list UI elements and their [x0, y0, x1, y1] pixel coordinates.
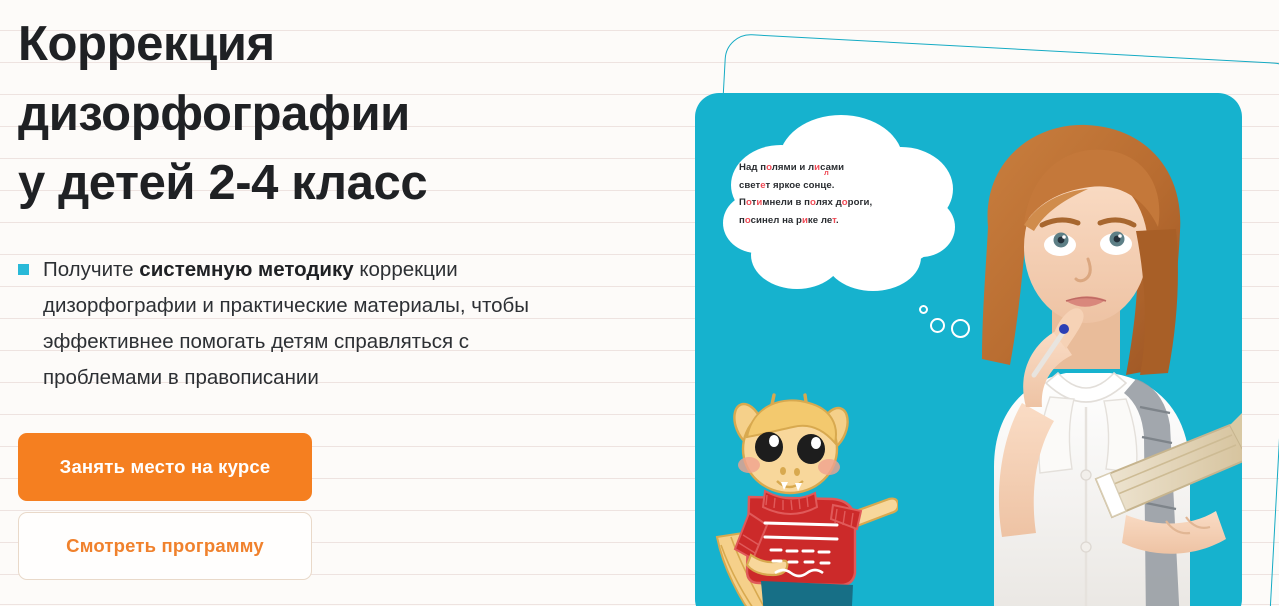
hero-button-stack: Занять место на курсе Смотреть программу [18, 433, 658, 580]
cloud-text-line-2: светет яркое сонце.л [739, 177, 907, 195]
hero-left-column: Коррекция дизорфографии у детей 2-4 клас… [18, 0, 658, 606]
hero-right-column: Над полями и лисами светет яркое сонце.л… [655, 0, 1279, 606]
square-bullet-icon [18, 264, 29, 275]
schoolgirl-photo [930, 107, 1242, 606]
page-title-line-1: Коррекция [18, 10, 658, 80]
thought-cloud-text: Над полями и лисами светет яркое сонце.л… [739, 159, 907, 229]
teal-card: Над полями и лисами светет яркое сонце.л… [695, 93, 1242, 606]
page-title-line-3: у детей 2-4 класс [18, 149, 658, 219]
page-title-line-2: дизорфографии [18, 80, 658, 150]
hero-description-before: Получите [43, 258, 139, 281]
hero-description: Получите системную методику коррекции ди… [43, 252, 573, 396]
cloud-text-line-4: посинел на рике лет. [739, 212, 907, 230]
page-title: Коррекция дизорфографии у детей 2-4 клас… [18, 10, 658, 219]
landing-hero-page: Коррекция дизорфографии у детей 2-4 клас… [0, 0, 1279, 606]
cloud-text-line-1: Над полями и лисами [739, 159, 907, 177]
hero-description-bold: системную методику [139, 258, 353, 281]
cloud-text-line-3: Потимнели в полях дороги, [739, 194, 907, 212]
enroll-button[interactable]: Занять место на курсе [18, 433, 312, 501]
hero-bullet-item: Получите системную методику коррекции ди… [18, 252, 658, 396]
thought-dot-small [919, 305, 928, 314]
cloud-text-correction: л [824, 169, 829, 177]
view-program-button[interactable]: Смотреть программу [18, 512, 312, 580]
giraffe-mascot-icon [713, 387, 898, 606]
